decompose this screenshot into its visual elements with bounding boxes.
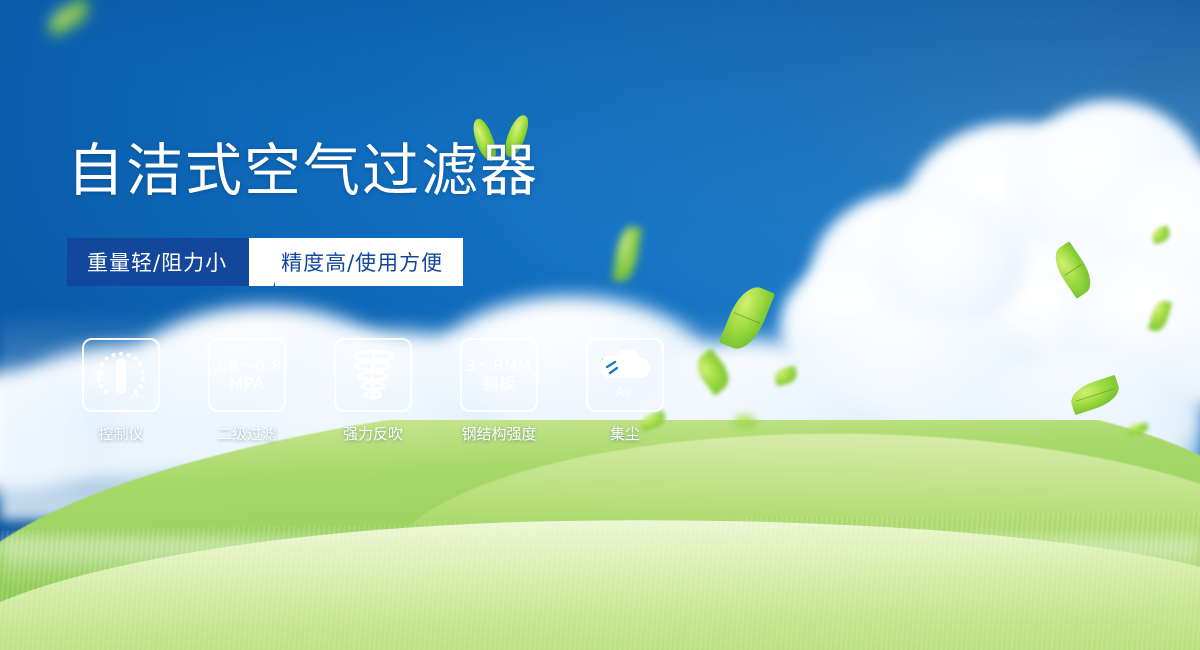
pressure-text-icon: 0.6～0.8 MPA bbox=[208, 338, 286, 412]
subtitle-bar: 重量轻/阻力小 精度高/使用方便 bbox=[67, 238, 463, 286]
coil-icon bbox=[334, 338, 412, 412]
cloud-air-icon: Air bbox=[586, 338, 664, 412]
gauge-off-label: OFF bbox=[132, 393, 146, 401]
feature-text-line2: MPA bbox=[230, 375, 265, 393]
feature-text-line1: 0.6～0.8 bbox=[212, 357, 282, 375]
feature-item-filtration[interactable]: 0.6～0.8 MPA 二级过滤 bbox=[208, 338, 286, 444]
page-title: 自洁式空气过滤器 bbox=[67, 141, 539, 203]
air-label: Air bbox=[616, 385, 633, 399]
feature-label: 强力反吹 bbox=[343, 423, 403, 444]
feature-item-dust[interactable]: Air 集尘 bbox=[586, 338, 664, 444]
subtitle-left: 重量轻/阻力小 bbox=[67, 238, 249, 286]
gauge-no-label: NO bbox=[93, 370, 104, 378]
gauge-icon: NO OFF bbox=[82, 338, 160, 412]
feature-list: NO OFF 控制仪 0.6～0.8 MPA 二级过滤 bbox=[82, 338, 664, 444]
subtitle-divider bbox=[249, 238, 275, 286]
feature-item-blowback[interactable]: 强力反吹 bbox=[334, 338, 412, 444]
feature-item-steel[interactable]: 3～8MM 钢板 钢结构强度 bbox=[460, 338, 538, 444]
grass-texture bbox=[0, 508, 1200, 650]
feature-label: 集尘 bbox=[610, 423, 640, 444]
feature-label: 钢结构强度 bbox=[461, 423, 536, 444]
steel-text-icon: 3～8MM 钢板 bbox=[460, 338, 538, 412]
feature-item-controller[interactable]: NO OFF 控制仪 bbox=[82, 338, 160, 444]
feature-text-line1: 3～8MM bbox=[466, 357, 532, 375]
grass-field bbox=[0, 420, 1200, 650]
product-banner: 自洁式空气过滤器 重量轻/阻力小 精度高/使用方便 N bbox=[0, 0, 1200, 650]
feature-text-line2: 钢板 bbox=[482, 375, 515, 393]
subtitle-right: 精度高/使用方便 bbox=[275, 238, 463, 286]
feature-label: 二级过滤 bbox=[217, 423, 277, 444]
feature-label: 控制仪 bbox=[98, 423, 143, 444]
hill-front bbox=[0, 508, 1200, 650]
